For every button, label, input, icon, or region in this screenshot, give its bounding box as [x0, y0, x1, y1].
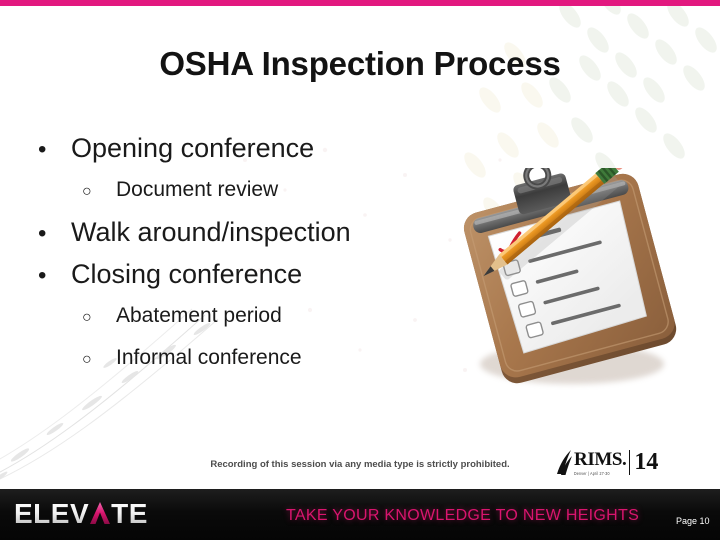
list-item-label: Opening conference — [71, 128, 314, 169]
rims-wordmark: RIMS. Denver | April 27-30 — [574, 450, 626, 476]
list-item: ○ Informal conference — [30, 338, 450, 380]
bullet-marker-icon: • — [38, 129, 71, 170]
logo-divider — [629, 450, 630, 475]
elevate-logo-part-before: ELEV — [14, 500, 89, 528]
clipboard-checklist-image — [452, 168, 697, 393]
rims-name: RIMS. — [574, 450, 626, 469]
list-item: • Walk around/inspection — [30, 212, 450, 254]
bullet-list: • Opening conference ○ Document review •… — [30, 128, 450, 380]
hollow-bullet-marker-icon: ○ — [82, 298, 116, 338]
top-accent-rule — [0, 0, 720, 6]
page-number: Page 10 — [676, 516, 710, 526]
list-item: ○ Document review — [30, 170, 450, 212]
slide-canvas: OSHA Inspection Process • Opening confer… — [0, 0, 720, 540]
page-title: OSHA Inspection Process — [40, 45, 680, 83]
elevate-logo-accent-a-icon — [90, 501, 110, 523]
list-item-label: Informal conference — [116, 338, 302, 378]
recording-notice: Recording of this session via any media … — [100, 459, 620, 470]
bullet-marker-icon: • — [38, 255, 71, 296]
list-item: ○ Abatement period — [30, 296, 450, 338]
list-item-label: Walk around/inspection — [71, 212, 351, 253]
rims-logo: RIMS. Denver | April 27-30 14 — [557, 450, 667, 482]
rims-subtitle: Denver | April 27-30 — [574, 470, 610, 478]
bottom-bar: ELEVTE TAKE YOUR KNOWLEDGE TO NEW HEIGHT… — [0, 489, 720, 540]
bullet-marker-icon: • — [38, 213, 71, 254]
list-item: • Opening conference — [30, 128, 450, 170]
rims-swoosh-icon — [557, 450, 573, 476]
hollow-bullet-marker-icon: ○ — [82, 172, 116, 212]
elevate-logo: ELEVTE — [14, 500, 148, 528]
list-item-label: Abatement period — [116, 296, 282, 336]
tagline: TAKE YOUR KNOWLEDGE TO NEW HEIGHTS — [286, 507, 639, 525]
list-item-label: Document review — [116, 170, 278, 210]
list-item-label: Closing conference — [71, 254, 302, 295]
list-item: • Closing conference — [30, 254, 450, 296]
hollow-bullet-marker-icon: ○ — [82, 340, 116, 380]
rims-year: 14 — [634, 450, 658, 474]
elevate-logo-part-after: TE — [111, 500, 148, 528]
